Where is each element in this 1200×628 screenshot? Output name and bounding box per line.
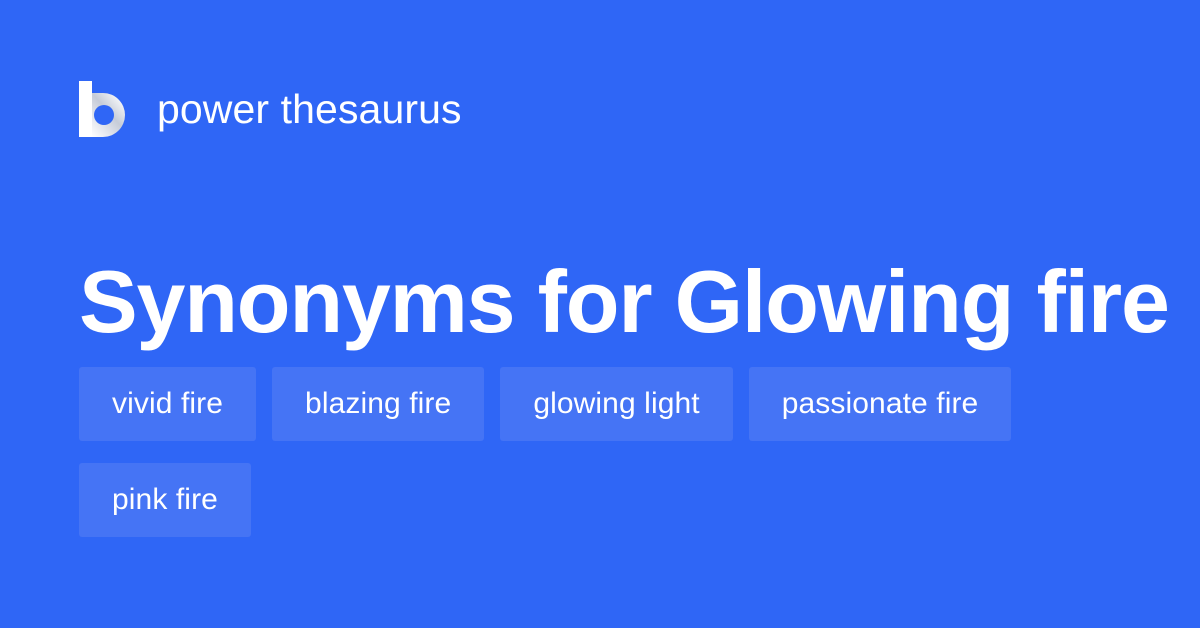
synonym-chip[interactable]: pink fire bbox=[79, 463, 251, 537]
brand-logo[interactable]: power thesaurus bbox=[79, 78, 462, 140]
page-title: Synonyms for Glowing fire bbox=[79, 255, 1139, 348]
brand-name: power thesaurus bbox=[157, 89, 462, 130]
synonym-chip[interactable]: glowing light bbox=[500, 367, 732, 441]
synonym-chip-list: vivid fire blazing fire glowing light pa… bbox=[79, 367, 1124, 537]
synonym-chip[interactable]: vivid fire bbox=[79, 367, 256, 441]
synonym-chip[interactable]: blazing fire bbox=[272, 367, 484, 441]
power-thesaurus-b-logo-icon bbox=[79, 81, 127, 137]
share-card: power thesaurus Synonyms for Glowing fir… bbox=[0, 0, 1200, 628]
synonym-chip[interactable]: passionate fire bbox=[749, 367, 1012, 441]
